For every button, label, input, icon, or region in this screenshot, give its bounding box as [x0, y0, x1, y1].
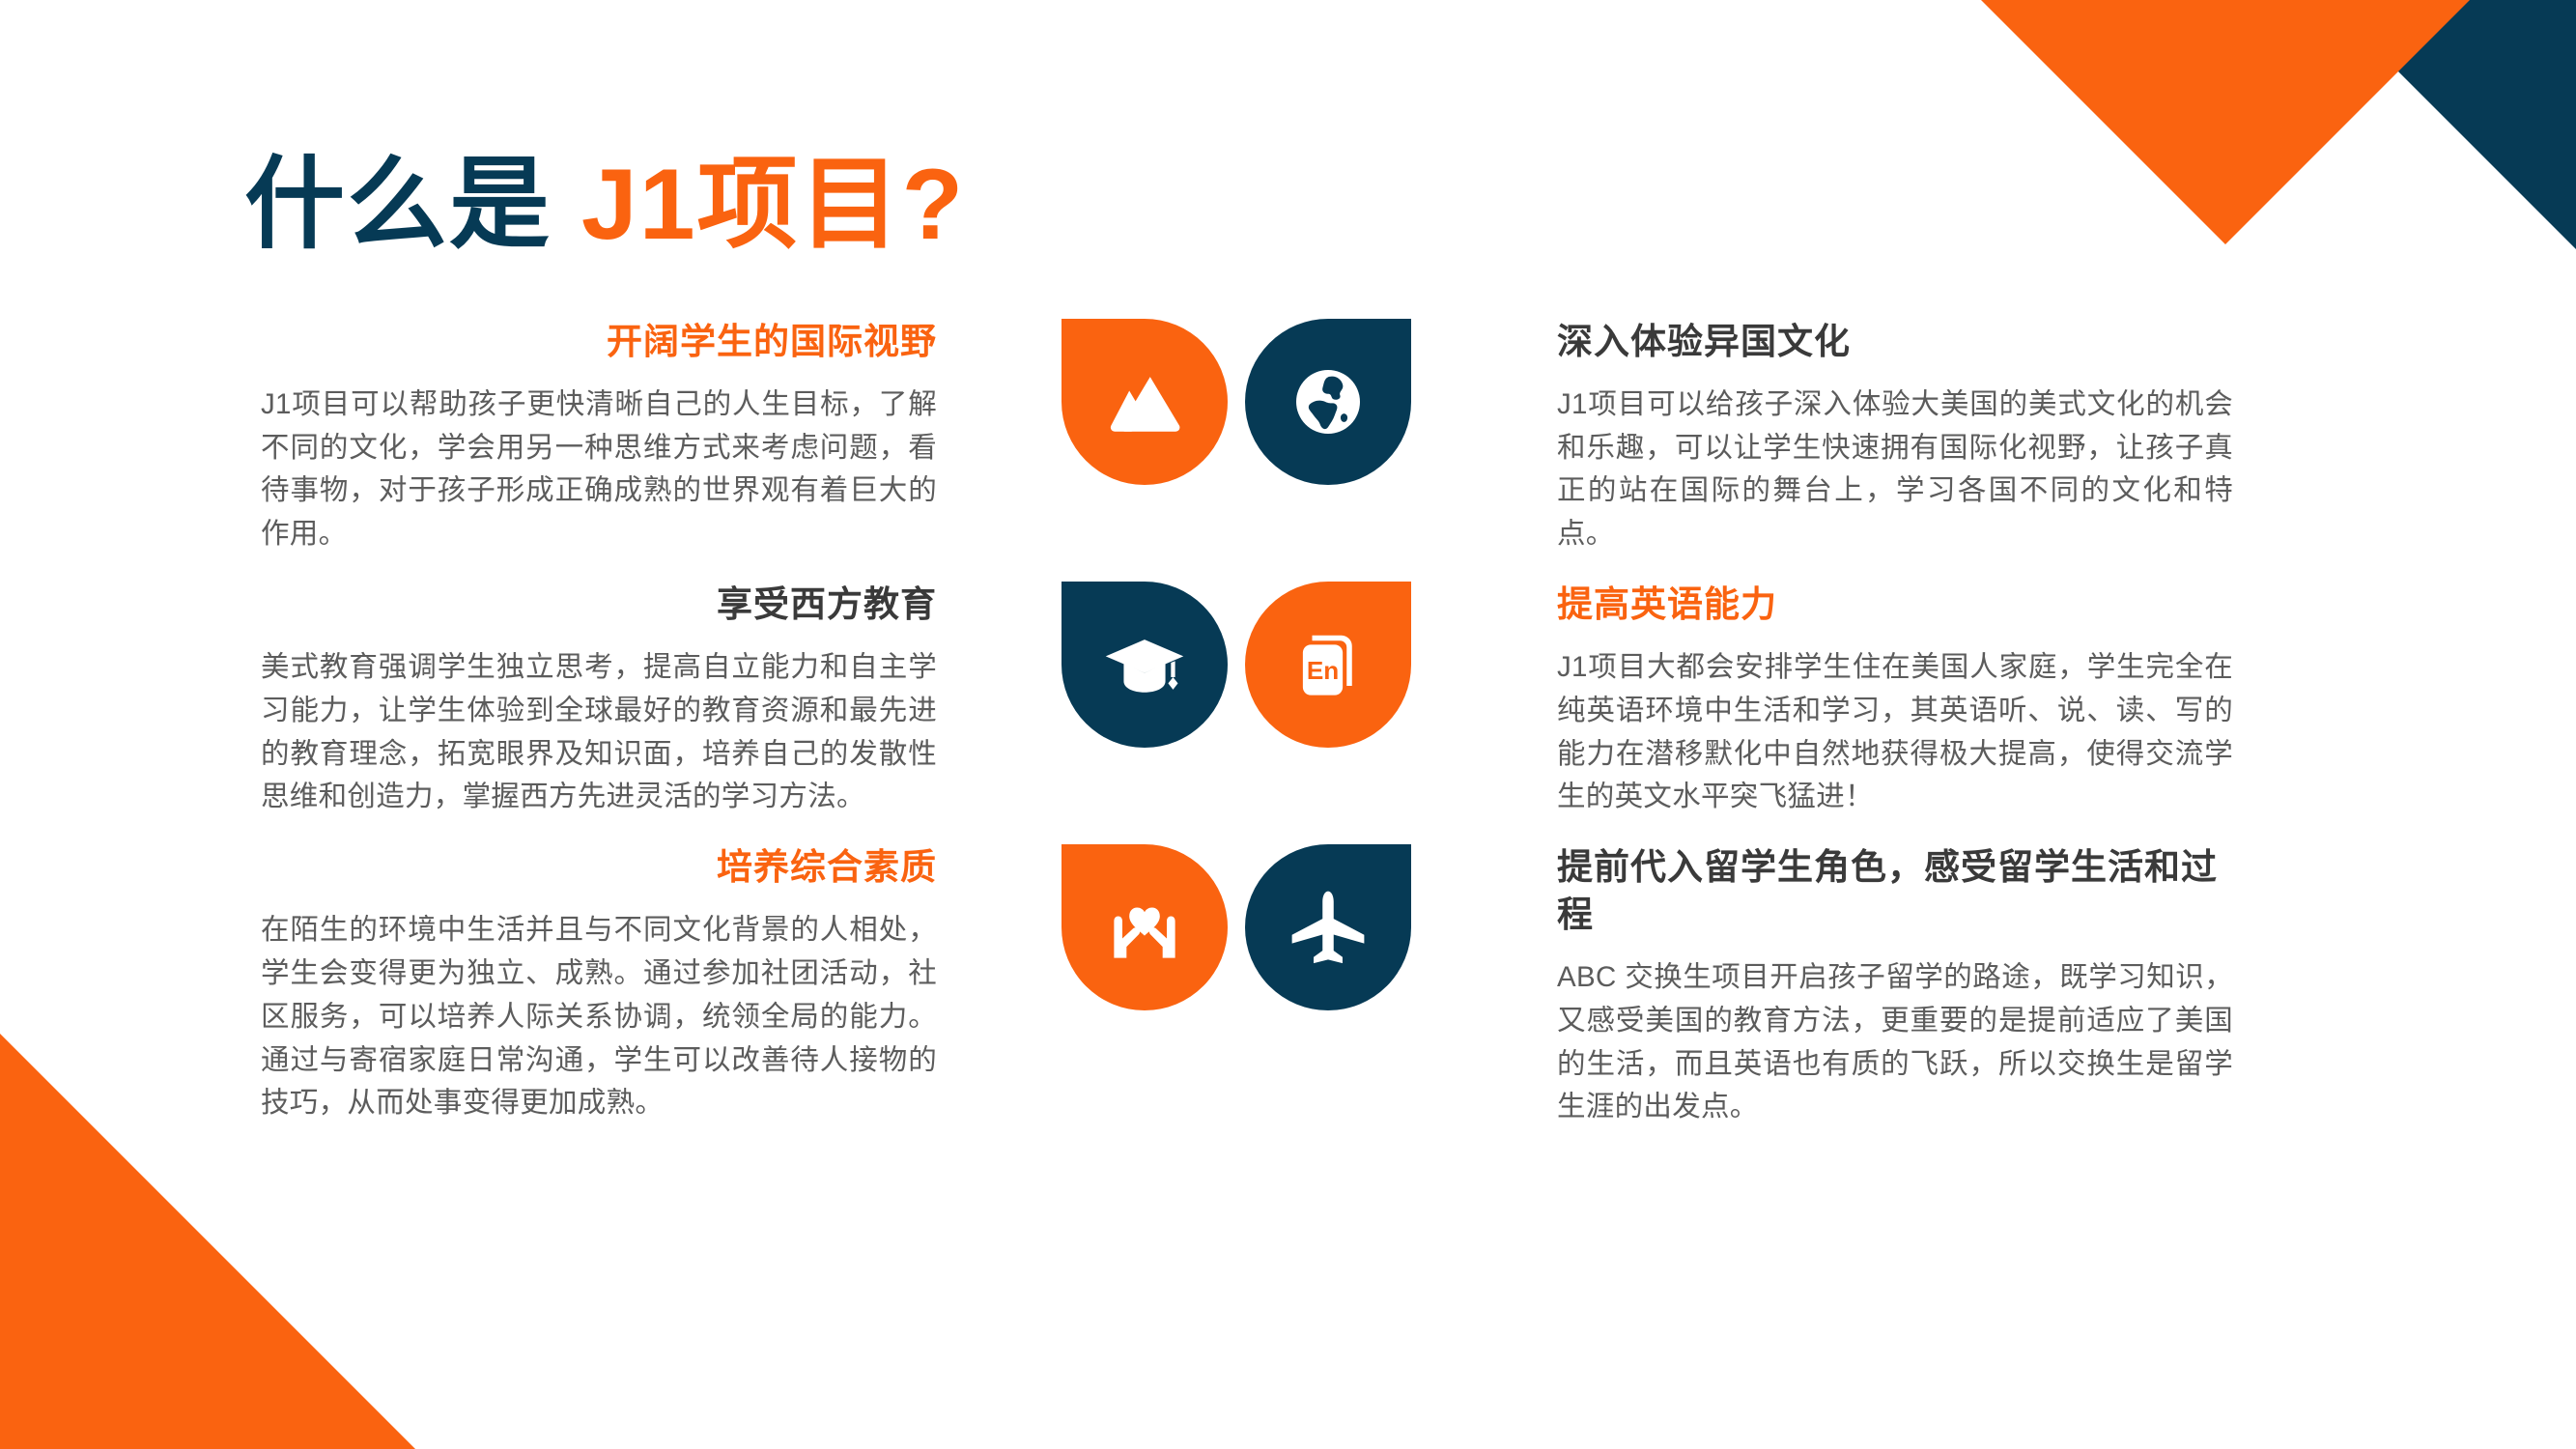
- hands-heart-icon: [1100, 883, 1189, 972]
- feature-body: 在陌生的环境中生活并且与不同文化背景的人相处，学生会变得更为独立、成熟。通过参加…: [261, 909, 937, 1125]
- feature-row: 培养综合素质 在陌生的环境中生活并且与不同文化背景的人相处，学生会变得更为独立、…: [0, 844, 2576, 1129]
- feature-badge[interactable]: [1245, 319, 1411, 485]
- feature-badge[interactable]: [1062, 582, 1228, 748]
- feature-body: J1项目可以给孩子深入体验大美国的美式文化的机会和乐趣，可以让学生快速拥有国际化…: [1557, 384, 2233, 556]
- page-title-prefix: 什么是: [244, 149, 581, 261]
- page-title-highlight: J1项目?: [581, 149, 965, 261]
- feature-cell-right: 深入体验异国文化 J1项目可以给孩子深入体验大美国的美式文化的机会和乐趣，可以让…: [1557, 319, 2233, 556]
- feature-heading: 享受西方教育: [261, 582, 937, 629]
- feature-heading: 开阔学生的国际视野: [261, 319, 937, 366]
- feature-badge[interactable]: En: [1245, 582, 1411, 748]
- feature-body: J1项目可以帮助孩子更快清晰自己的人生目标，了解不同的文化，学会用另一种思维方式…: [261, 384, 937, 556]
- feature-badge[interactable]: [1062, 319, 1228, 485]
- feature-cell-right: 提高英语能力 J1项目大都会安排学生住在美国人家庭，学生完全在纯英语环境中生活和…: [1557, 582, 2233, 819]
- page-title: 什么是 J1项目?: [244, 153, 965, 258]
- feature-cell-right: 提前代入留学生角色，感受留学生活和过程 ABC 交换生项目开启孩子留学的路途，既…: [1557, 844, 2233, 1129]
- airplane-icon: [1284, 883, 1373, 972]
- feature-body: J1项目大都会安排学生住在美国人家庭，学生完全在纯英语环境中生活和学习，其英语听…: [1557, 646, 2233, 819]
- feature-cell-left: 开阔学生的国际视野 J1项目可以帮助孩子更快清晰自己的人生目标，了解不同的文化，…: [261, 319, 937, 556]
- feature-body: 美式教育强调学生独立思考，提高自立能力和自主学习能力，让学生体验到全球最好的教育…: [261, 646, 937, 819]
- svg-text:En: En: [1307, 656, 1339, 685]
- badge-pair: [937, 844, 1536, 1010]
- badge-pair: [937, 319, 1536, 485]
- feature-row: 开阔学生的国际视野 J1项目可以帮助孩子更快清晰自己的人生目标，了解不同的文化，…: [0, 319, 2576, 556]
- feature-heading: 深入体验异国文化: [1557, 319, 2233, 366]
- corner-decoration-top-right-navy: [2327, 0, 2576, 249]
- feature-heading: 提前代入留学生角色，感受留学生活和过程: [1557, 844, 2233, 939]
- globe-icon: [1286, 359, 1371, 444]
- english-book-icon: En: [1286, 622, 1371, 707]
- feature-cell-left: 享受西方教育 美式教育强调学生独立思考，提高自立能力和自主学习能力，让学生体验到…: [261, 582, 937, 819]
- feature-badge[interactable]: [1062, 844, 1228, 1010]
- feature-heading: 培养综合素质: [261, 844, 937, 892]
- feature-badge[interactable]: [1245, 844, 1411, 1010]
- feature-grid: 开阔学生的国际视野 J1项目可以帮助孩子更快清晰自己的人生目标，了解不同的文化，…: [0, 319, 2576, 1154]
- feature-heading: 提高英语能力: [1557, 582, 2233, 629]
- graduation-cap-icon: [1100, 620, 1189, 709]
- feature-cell-left: 培养综合素质 在陌生的环境中生活并且与不同文化背景的人相处，学生会变得更为独立、…: [261, 844, 937, 1125]
- feature-row: 享受西方教育 美式教育强调学生独立思考，提高自立能力和自主学习能力，让学生体验到…: [0, 582, 2576, 819]
- badge-pair: En: [937, 582, 1536, 748]
- corner-decoration-top-right-orange: [1981, 0, 2470, 244]
- feature-body: ABC 交换生项目开启孩子留学的路途，既学习知识，又感受美国的教育方法，更重要的…: [1557, 956, 2233, 1129]
- mountains-icon: [1100, 357, 1189, 446]
